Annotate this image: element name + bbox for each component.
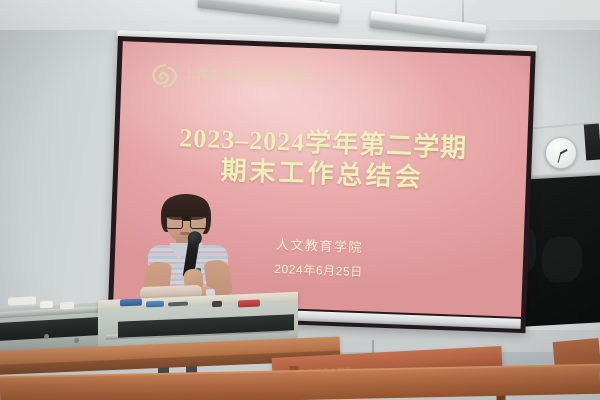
- lectern-knob: [44, 334, 49, 339]
- swirl-logo-icon: [151, 62, 178, 89]
- lectern-knob: [74, 338, 79, 343]
- corner-wall-box: [584, 124, 600, 161]
- clock-minute-hand: [558, 153, 562, 163]
- slide-logo-text: 上海农林职业技术学院 SHANGHAI AGRICULTURE AND FORE…: [183, 68, 324, 91]
- lens-left: [166, 216, 183, 229]
- classroom-photo-scene: 上海农林职业技术学院 SHANGHAI AGRICULTURE AND FORE…: [0, 0, 600, 400]
- podium-item-blue-object-2: [146, 301, 164, 308]
- slide-title: 2023–2024学年第二学期 期末工作总结会: [118, 121, 528, 197]
- podium-item-blue-folder: [120, 299, 142, 307]
- podium-item-papers: [8, 296, 36, 305]
- podium-item-red-object: [238, 300, 260, 308]
- chalk-smudge: [542, 235, 582, 283]
- podium-item-dark-object: [212, 301, 222, 307]
- podium-item-white-object-2: [60, 302, 74, 310]
- eyeglasses-icon: [166, 216, 207, 227]
- wall-clock-icon: [545, 137, 577, 169]
- podium-item-white-object-1: [40, 301, 53, 309]
- clock-center-pin: [560, 152, 562, 154]
- lens-right: [190, 216, 207, 229]
